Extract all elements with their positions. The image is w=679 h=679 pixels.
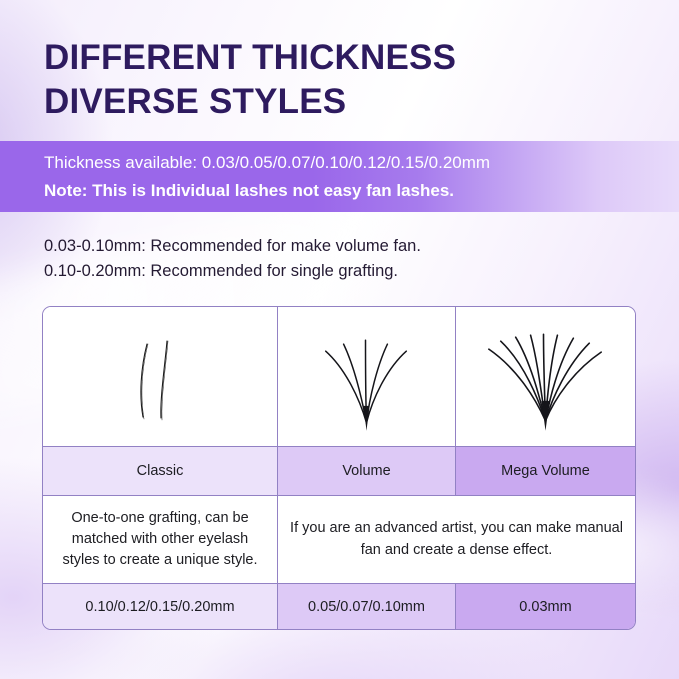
style-name-mega-volume: Mega Volume xyxy=(455,447,635,495)
volume-fan-lashes-icon xyxy=(278,307,455,446)
description-classic: One-to-one grafting, can be matched with… xyxy=(43,496,277,583)
mega-volume-illustration-cell xyxy=(455,307,635,446)
table-row-style-names: Classic Volume Mega Volume xyxy=(43,446,635,495)
lash-type-note: Note: This is Individual lashes not easy… xyxy=(44,178,669,204)
description-volume-mega-volume: If you are an advanced artist, you can m… xyxy=(277,496,635,583)
mega-volume-fan-lashes-icon xyxy=(456,307,635,446)
thickness-available-text: Thickness available: 0.03/0.05/0.07/0.10… xyxy=(44,150,669,176)
table-row-descriptions: One-to-one grafting, can be matched with… xyxy=(43,495,635,583)
page-title: DIFFERENT THICKNESS DIVERSE STYLES xyxy=(44,36,644,125)
thickness-banner: Thickness available: 0.03/0.05/0.07/0.10… xyxy=(0,141,679,212)
thickness-mega-volume: 0.03mm xyxy=(455,584,635,629)
recommendation-line-2: 0.10-0.20mm: Recommended for single graf… xyxy=(44,259,421,284)
thickness-banner-content: Thickness available: 0.03/0.05/0.07/0.10… xyxy=(44,150,669,203)
page-title-line-1: DIFFERENT THICKNESS xyxy=(44,36,644,80)
classic-illustration-cell xyxy=(43,307,277,446)
style-name-classic: Classic xyxy=(43,447,277,495)
volume-illustration-cell xyxy=(277,307,455,446)
thickness-volume: 0.05/0.07/0.10mm xyxy=(277,584,455,629)
two-individual-lashes-icon xyxy=(43,307,277,446)
table-row-illustrations xyxy=(43,307,635,446)
recommendation-line-1: 0.03-0.10mm: Recommended for make volume… xyxy=(44,234,421,259)
style-name-volume: Volume xyxy=(277,447,455,495)
lash-comparison-table: Classic Volume Mega Volume One-to-one gr… xyxy=(42,306,636,630)
promotional-infographic: DIFFERENT THICKNESS DIVERSE STYLES Thick… xyxy=(0,0,679,679)
page-title-line-2: DIVERSE STYLES xyxy=(44,80,644,124)
recommendation-text: 0.03-0.10mm: Recommended for make volume… xyxy=(44,234,421,284)
table-row-thickness: 0.10/0.12/0.15/0.20mm 0.05/0.07/0.10mm 0… xyxy=(43,583,635,629)
thickness-classic: 0.10/0.12/0.15/0.20mm xyxy=(43,584,277,629)
